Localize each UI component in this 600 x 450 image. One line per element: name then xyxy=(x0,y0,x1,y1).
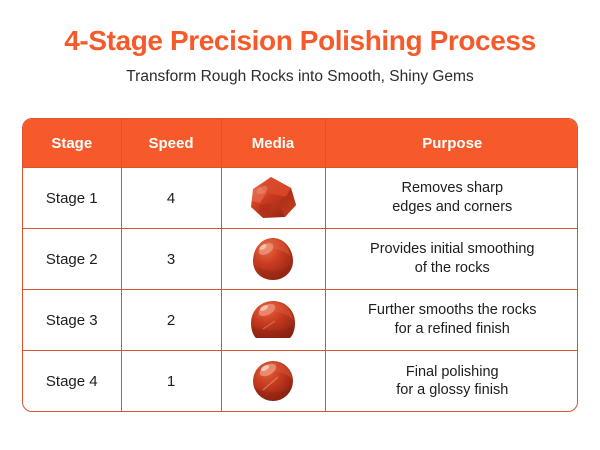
cell-speed: 3 xyxy=(121,229,221,290)
process-table: Stage Speed Media Purpose Stage 1 4 xyxy=(23,119,578,412)
page-subtitle: Transform Rough Rocks into Smooth, Shiny… xyxy=(0,68,600,85)
smooth-dome-rock-icon xyxy=(249,299,297,341)
purpose-line-1: Provides initial smoothing xyxy=(330,240,576,259)
table-header: Stage Speed Media Purpose xyxy=(23,119,578,168)
cell-media xyxy=(221,168,325,229)
table-row: Stage 2 3 xyxy=(23,229,578,290)
cell-media xyxy=(221,290,325,351)
table-body: Stage 1 4 xyxy=(23,168,578,412)
cell-speed: 4 xyxy=(121,168,221,229)
purpose-line-1: Further smooths the rocks xyxy=(330,301,576,320)
cell-stage: Stage 2 xyxy=(23,229,121,290)
table-header-row: Stage Speed Media Purpose xyxy=(23,119,578,168)
page-header: 4-Stage Precision Polishing Process Tran… xyxy=(0,0,600,85)
cell-stage: Stage 4 xyxy=(23,351,121,412)
column-header-speed: Speed xyxy=(121,119,221,168)
column-header-stage: Stage xyxy=(23,119,121,168)
column-header-media: Media xyxy=(221,119,325,168)
semi-smooth-rock-icon xyxy=(249,236,297,282)
purpose-line-1: Removes sharp xyxy=(330,179,576,198)
cell-media xyxy=(221,351,325,412)
cell-speed: 1 xyxy=(121,351,221,412)
cell-media xyxy=(221,229,325,290)
purpose-line-2: edges and corners xyxy=(330,198,576,217)
polished-round-gem-icon xyxy=(251,359,295,403)
process-table-container: Stage Speed Media Purpose Stage 1 4 xyxy=(22,118,578,412)
cell-purpose: Final polishing for a glossy finish xyxy=(325,351,578,412)
purpose-line-2: for a refined finish xyxy=(330,320,576,339)
table-row: Stage 4 1 xyxy=(23,351,578,412)
purpose-line-2: for a glossy finish xyxy=(330,381,576,400)
cell-purpose: Removes sharp edges and corners xyxy=(325,168,578,229)
table-row: Stage 3 2 xyxy=(23,290,578,351)
purpose-line-1: Final polishing xyxy=(330,363,576,382)
cell-stage: Stage 3 xyxy=(23,290,121,351)
cell-purpose: Provides initial smoothing of the rocks xyxy=(325,229,578,290)
rough-angular-rock-icon xyxy=(247,175,299,221)
cell-speed: 2 xyxy=(121,290,221,351)
cell-stage: Stage 1 xyxy=(23,168,121,229)
page-title: 4-Stage Precision Polishing Process xyxy=(0,26,600,57)
column-header-purpose: Purpose xyxy=(325,119,578,168)
cell-purpose: Further smooths the rocks for a refined … xyxy=(325,290,578,351)
table-row: Stage 1 4 xyxy=(23,168,578,229)
purpose-line-2: of the rocks xyxy=(330,259,576,278)
